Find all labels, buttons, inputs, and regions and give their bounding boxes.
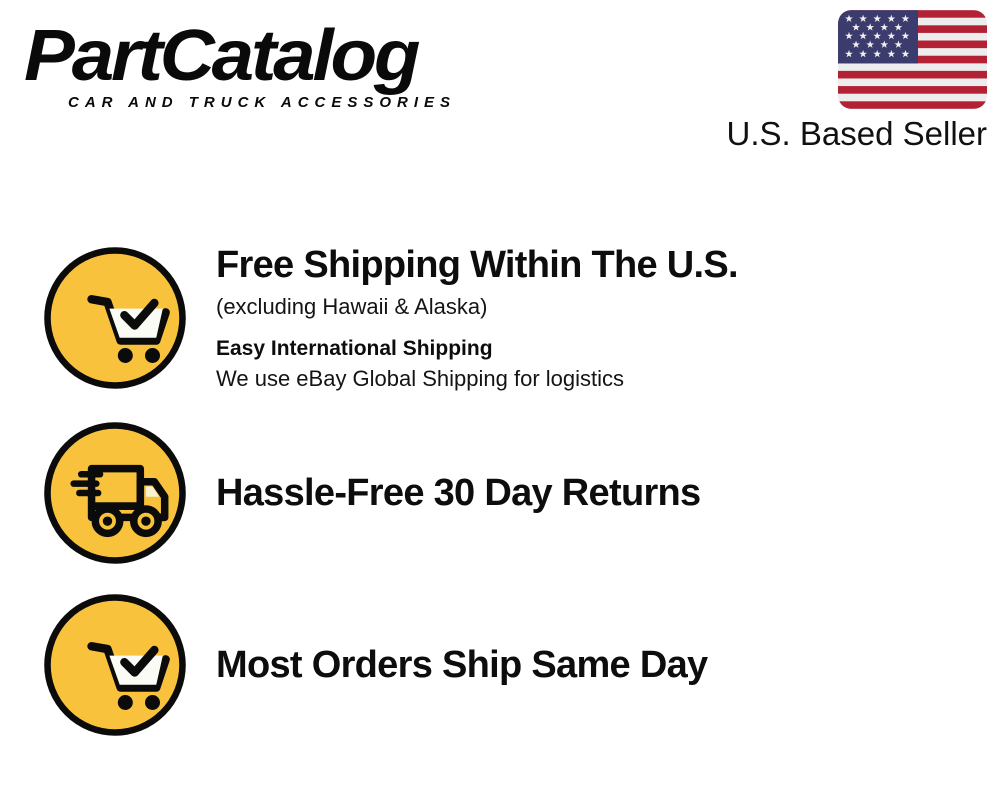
feature-title: Most Orders Ship Same Day [216,644,707,687]
feature-text-block: Most Orders Ship Same Day [216,644,707,687]
feature-same-day-shipping: Most Orders Ship Same Day [40,590,707,740]
feature-subtitle: (excluding Hawaii & Alaska) [216,293,738,321]
feature-strong-line: Easy International Shipping [216,336,738,361]
feature-note: We use eBay Global Shipping for logistic… [216,365,738,393]
brand-logo: PartCatalog CAR AND TRUCK ACCESSORIES [24,24,494,116]
us-flag-icon [838,10,987,109]
feature-title: Free Shipping Within The U.S. [216,244,738,287]
delivery-truck-icon [40,418,190,568]
feature-free-shipping: Free Shipping Within The U.S. (excluding… [40,243,738,393]
us-based-seller-label: U.S. Based Seller [717,115,987,153]
shopping-cart-check-icon [40,243,190,393]
promo-banner: PartCatalog CAR AND TRUCK ACCESSORIES [0,0,1000,800]
us-based-seller-badge: U.S. Based Seller [717,10,987,153]
brand-tagline: CAR AND TRUCK ACCESSORIES [68,94,456,111]
feature-text-block: Hassle-Free 30 Day Returns [216,472,700,515]
feature-text-block: Free Shipping Within The U.S. (excluding… [216,244,738,393]
feature-returns: Hassle-Free 30 Day Returns [40,418,700,568]
brand-wordmark: PartCatalog [24,20,417,92]
feature-title: Hassle-Free 30 Day Returns [216,472,700,515]
shopping-cart-check-icon [40,590,190,740]
